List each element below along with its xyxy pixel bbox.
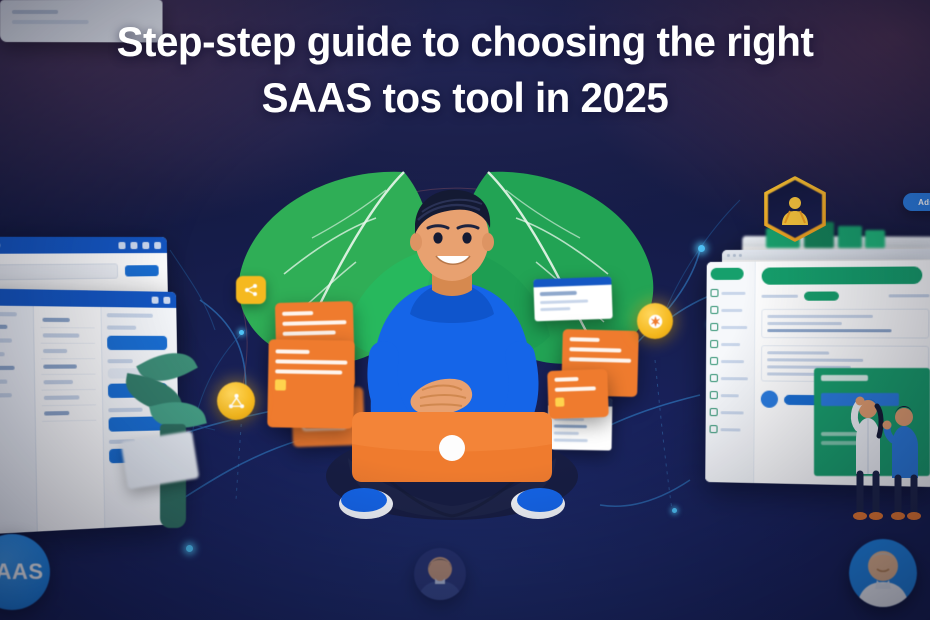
search-field[interactable] bbox=[0, 263, 118, 280]
table-row[interactable] bbox=[41, 328, 95, 344]
window-titlebar bbox=[0, 237, 167, 254]
settings-icon[interactable] bbox=[142, 241, 149, 248]
primary-button[interactable] bbox=[125, 265, 159, 276]
sidebar-item-icon[interactable] bbox=[710, 425, 718, 433]
content-header-pill bbox=[762, 266, 923, 284]
man-with-laptop bbox=[318, 186, 586, 546]
status-chip[interactable] bbox=[804, 291, 839, 300]
sidebar-item-icon[interactable] bbox=[710, 306, 718, 314]
sidebar-logo bbox=[711, 268, 744, 280]
window-titlebar bbox=[0, 288, 176, 308]
network-node bbox=[672, 508, 677, 513]
table-row[interactable] bbox=[41, 375, 95, 391]
ads-pill-button[interactable]: Ads bbox=[903, 193, 930, 211]
table-row[interactable] bbox=[42, 390, 96, 406]
bell-icon[interactable] bbox=[163, 296, 170, 303]
sidebar-item-icon[interactable] bbox=[710, 408, 718, 416]
gear-icon bbox=[646, 312, 665, 331]
dashboard-table[interactable] bbox=[34, 306, 105, 531]
plant-decoration bbox=[118, 352, 214, 532]
table-row[interactable] bbox=[42, 405, 96, 422]
settings-badge[interactable] bbox=[637, 303, 673, 339]
cart-icon[interactable] bbox=[130, 241, 137, 248]
network-node bbox=[698, 245, 705, 252]
ads-pill-label: Ads bbox=[918, 198, 930, 207]
sidebar-item-icon[interactable] bbox=[710, 357, 718, 365]
title-line-2: SAAS tos tool in 2025 bbox=[19, 70, 912, 126]
person-icon bbox=[777, 194, 813, 226]
green-sidebar[interactable] bbox=[705, 262, 756, 483]
network-node bbox=[186, 545, 193, 552]
network-badge[interactable] bbox=[217, 382, 255, 420]
table-row[interactable] bbox=[40, 312, 94, 328]
sidebar-item-icon[interactable] bbox=[710, 374, 718, 382]
title-line-1: Step-step guide to choosing the right bbox=[19, 14, 912, 70]
avatar-center-bottom[interactable] bbox=[414, 548, 466, 600]
saas-logo-label: SAAS bbox=[0, 559, 44, 585]
grid-icon[interactable] bbox=[152, 296, 159, 303]
table-row[interactable] bbox=[41, 359, 95, 375]
avatar bbox=[761, 391, 778, 408]
poster-canvas: Ads bbox=[0, 0, 930, 620]
share-badge[interactable] bbox=[236, 276, 266, 304]
dashboard-sidebar[interactable] bbox=[0, 305, 38, 535]
chat-bubble bbox=[107, 336, 167, 350]
sidebar-item-icon[interactable] bbox=[710, 289, 718, 297]
search-icon[interactable] bbox=[118, 242, 125, 249]
people-illustration bbox=[846, 382, 930, 524]
sidebar-item-icon[interactable] bbox=[710, 340, 718, 348]
user-icon[interactable] bbox=[154, 241, 161, 248]
network-icon bbox=[227, 392, 246, 411]
share-icon bbox=[243, 282, 259, 298]
table-row[interactable] bbox=[41, 344, 95, 360]
sidebar-item-icon[interactable] bbox=[710, 323, 718, 331]
titlebar-icons[interactable] bbox=[118, 241, 161, 248]
page-title: Step-step guide to choosing the right SA… bbox=[0, 14, 930, 126]
avatar-right-bottom[interactable] bbox=[849, 539, 917, 607]
sidebar-item-icon[interactable] bbox=[710, 391, 718, 399]
